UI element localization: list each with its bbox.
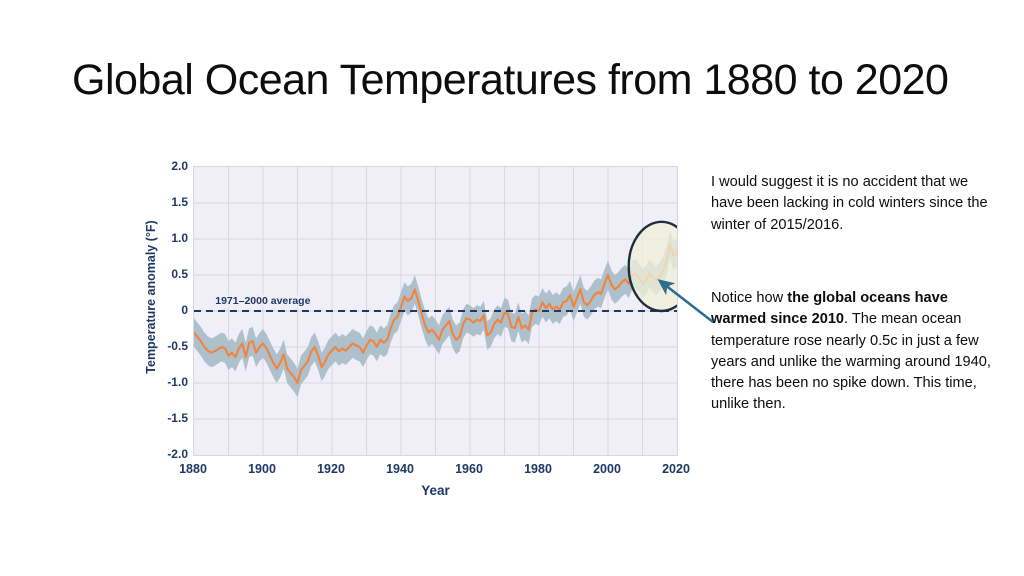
annotation-lead-text: Notice how — [711, 290, 787, 306]
y-tick-label: -0.5 — [142, 339, 188, 353]
y-tick-label: 1.5 — [142, 195, 188, 209]
x-tick-label: 2020 — [662, 462, 690, 476]
annotation-paragraph-2: Notice how the global oceans have warmed… — [711, 288, 996, 416]
x-tick-label: 1980 — [524, 462, 552, 476]
annotation-paragraph-1: I would suggest it is no accident that w… — [711, 172, 996, 236]
y-tick-label: 2.0 — [142, 159, 188, 173]
chart-figure: Temperature anomaly (°F) 2.01.51.00.50-0… — [120, 150, 700, 510]
x-tick-label: 2000 — [593, 462, 621, 476]
x-tick-label: 1940 — [386, 462, 414, 476]
y-tick-label: 1.0 — [142, 231, 188, 245]
chart-plot-svg — [194, 167, 677, 455]
y-tick-label: -1.0 — [142, 375, 188, 389]
recent-warming-highlight-ellipse — [629, 222, 677, 311]
plot-area: 1971–2000 average — [193, 166, 678, 456]
x-axis-title: Year — [193, 483, 678, 498]
x-tick-label: 1900 — [248, 462, 276, 476]
y-tick-label: -2.0 — [142, 447, 188, 461]
x-tick-label: 1920 — [317, 462, 345, 476]
y-tick-label: 0.5 — [142, 267, 188, 281]
y-tick-label: 0 — [142, 303, 188, 317]
baseline-label: 1971–2000 average — [213, 295, 312, 307]
x-tick-label: 1880 — [179, 462, 207, 476]
x-axis-tick-labels: 18801900192019401960198020002020 — [193, 462, 678, 482]
y-axis-tick-labels: 2.01.51.00.50-0.5-1.0-1.5-2.0 — [120, 166, 188, 456]
y-tick-label: -1.5 — [142, 411, 188, 425]
page-title: Global Ocean Temperatures from 1880 to 2… — [72, 56, 972, 105]
x-tick-label: 1960 — [455, 462, 483, 476]
